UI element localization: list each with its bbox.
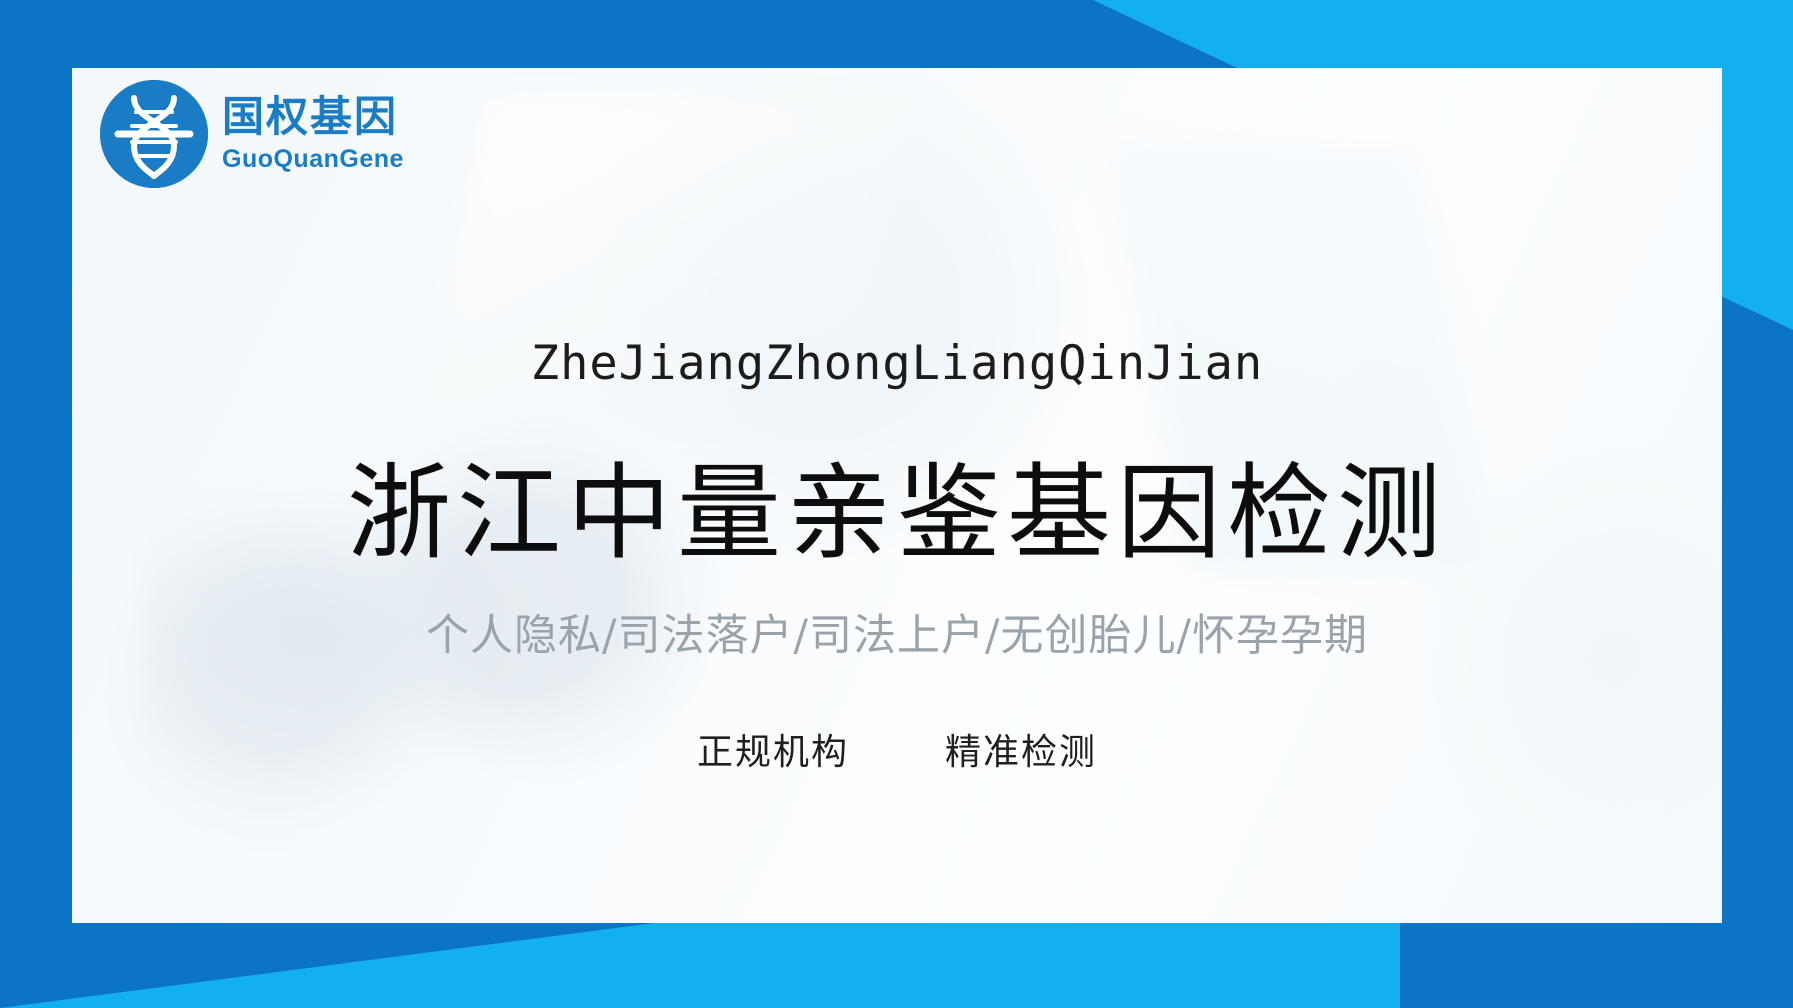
tagline-item: 正规机构 bbox=[697, 723, 849, 775]
service-subtitle: 个人隐私/司法落户/司法上户/无创胎儿/怀孕孕期 bbox=[72, 601, 1722, 663]
poster-card: 国权基因 GuoQuanGene ZheJiangZhongLiangQinJi… bbox=[72, 68, 1722, 923]
dna-helix-icon bbox=[100, 80, 208, 188]
brand-logo-text: 国权基因 GuoQuanGene bbox=[222, 96, 404, 172]
brand-name-cn: 国权基因 bbox=[222, 96, 404, 138]
tagline-row: 正规机构 精准检测 bbox=[72, 723, 1722, 775]
page-title: 浙江中量亲鉴基因检测 bbox=[72, 428, 1722, 579]
brand-logo: 国权基因 GuoQuanGene bbox=[100, 80, 404, 188]
pinyin-title: ZheJiangZhongLiangQinJian bbox=[72, 336, 1722, 391]
tagline-item: 精准检测 bbox=[945, 723, 1097, 775]
brand-name-en: GuoQuanGene bbox=[222, 147, 404, 172]
poster-banner: 国权基因 GuoQuanGene ZheJiangZhongLiangQinJi… bbox=[0, 0, 1793, 1008]
